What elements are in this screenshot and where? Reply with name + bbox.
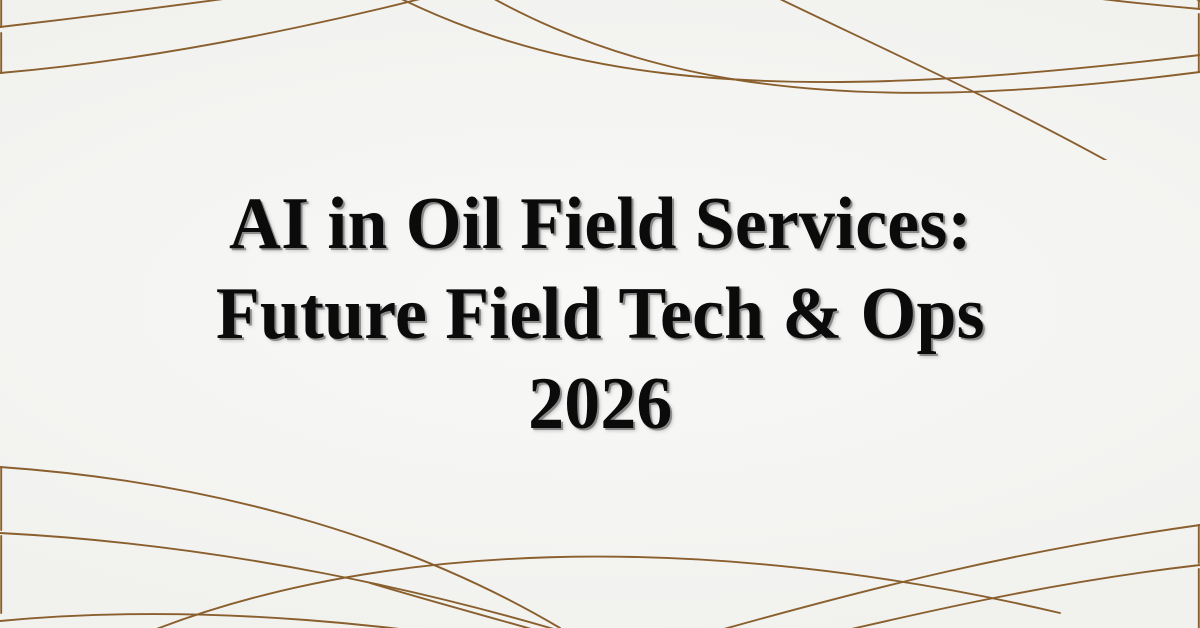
title-block: AI in Oil Field Services: Future Field T… (0, 0, 1200, 628)
page-title: AI in Oil Field Services: Future Field T… (216, 179, 985, 450)
title-card-canvas: AI in Oil Field Services: Future Field T… (0, 0, 1200, 628)
